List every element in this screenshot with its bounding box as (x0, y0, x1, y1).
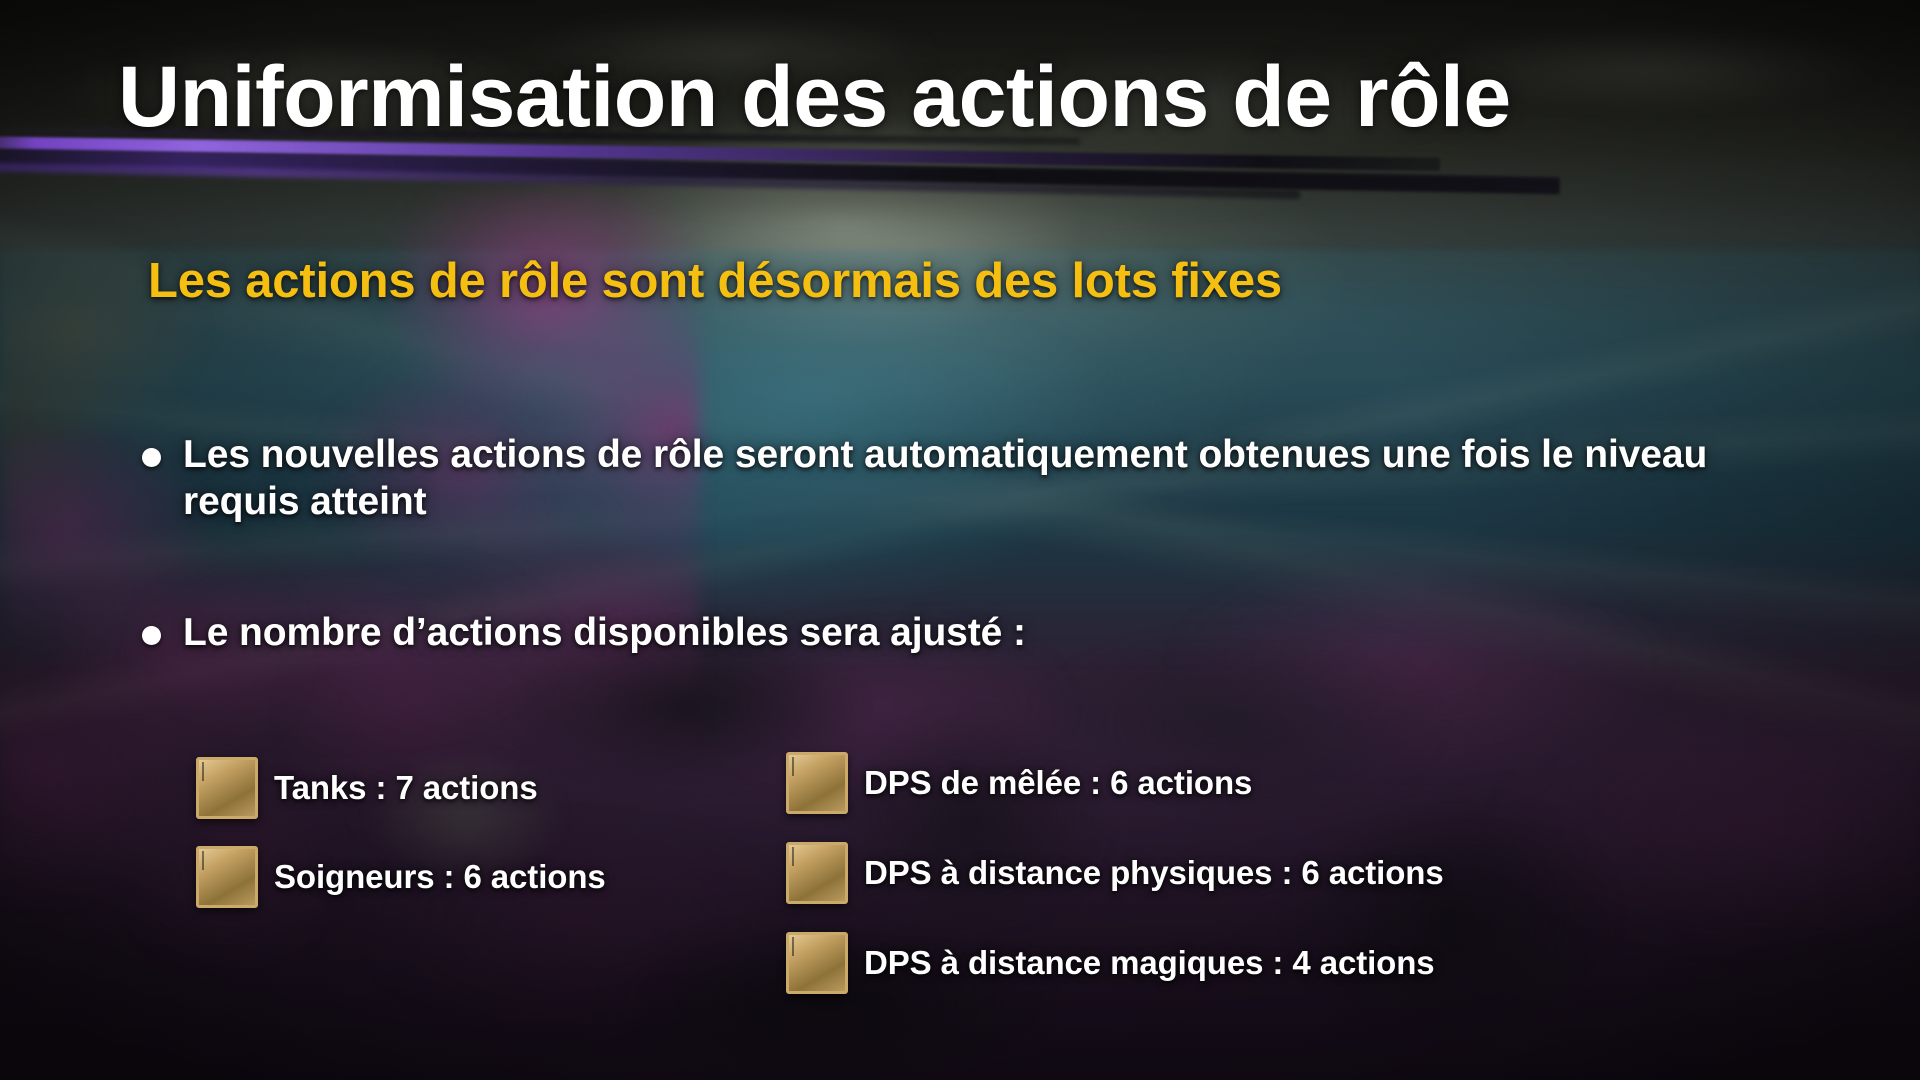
cross-icon (196, 846, 258, 908)
role-row-magical-ranged-dps: DPS à distance magiques : 4 actions (786, 932, 1435, 994)
sword-icon (786, 932, 848, 994)
role-row-tank: Tanks : 7 actions (196, 757, 538, 819)
sword-icon-plate (792, 757, 794, 776)
slide-root: Uniformisation des actions de rôle Les a… (0, 0, 1920, 1080)
role-label-magical-ranged-dps: DPS à distance magiques : 4 actions (864, 944, 1435, 982)
sword-icon-plate (792, 847, 794, 866)
role-label-healer: Soigneurs : 6 actions (274, 858, 606, 896)
shield-icon-plate (202, 762, 204, 781)
role-action-list: Tanks : 7 actions (0, 0, 1920, 1080)
sword-icon-plate (792, 937, 794, 956)
cross-icon-plate (202, 851, 204, 870)
role-row-melee-dps: DPS de mêlée : 6 actions (786, 752, 1252, 814)
role-row-physical-ranged-dps: DPS à distance physiques : 6 actions (786, 842, 1444, 904)
sword-icon (786, 752, 848, 814)
role-label-melee-dps: DPS de mêlée : 6 actions (864, 764, 1252, 802)
role-label-tank: Tanks : 7 actions (274, 769, 538, 807)
sword-icon (786, 842, 848, 904)
role-row-healer: Soigneurs : 6 actions (196, 846, 606, 908)
role-label-physical-ranged-dps: DPS à distance physiques : 6 actions (864, 854, 1444, 892)
shield-icon (196, 757, 258, 819)
